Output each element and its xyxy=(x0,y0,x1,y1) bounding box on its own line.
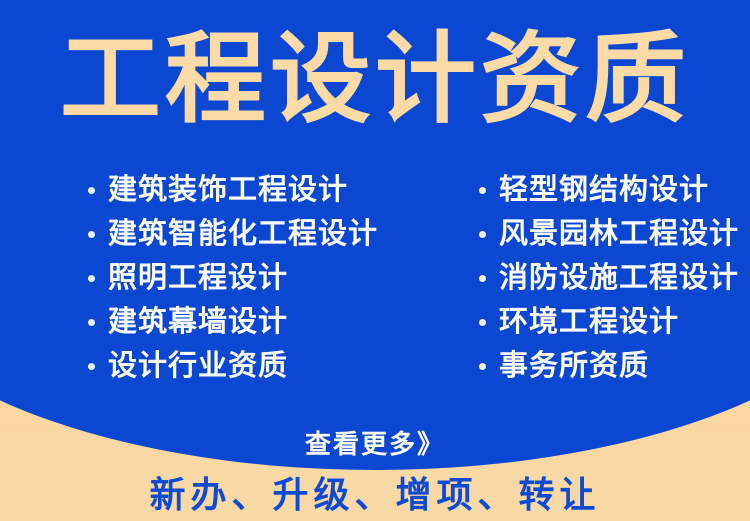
list-item[interactable]: 事务所资质 xyxy=(479,344,750,388)
poster-title-container: 工程设计资质 xyxy=(0,22,750,137)
view-more-link[interactable]: 查看更多》 xyxy=(305,429,445,459)
services-list: 建筑装饰工程设计 建筑智能化工程设计 照明工程设计 建筑幕墙设计 设计行业资质 xyxy=(0,168,750,388)
dot-bullet-icon xyxy=(88,187,95,194)
list-item-label: 设计行业资质 xyxy=(108,352,288,381)
list-item-label: 风景园林工程设计 xyxy=(499,220,739,249)
dot-bullet-icon xyxy=(88,231,95,238)
list-item[interactable]: 建筑智能化工程设计 xyxy=(88,212,463,256)
dot-bullet-icon xyxy=(479,231,486,238)
list-item[interactable]: 设计行业资质 xyxy=(88,344,463,388)
list-item[interactable]: 照明工程设计 xyxy=(88,256,463,300)
dot-bullet-icon xyxy=(479,363,486,370)
list-item[interactable]: 环境工程设计 xyxy=(479,300,750,344)
list-item-label: 轻型钢结构设计 xyxy=(499,176,709,205)
list-item-label: 环境工程设计 xyxy=(499,308,679,337)
view-more-container: 查看更多》 xyxy=(0,424,750,461)
list-item[interactable]: 建筑幕墙设计 xyxy=(88,300,463,344)
list-item-label: 建筑智能化工程设计 xyxy=(108,220,378,249)
list-item-label: 事务所资质 xyxy=(499,352,649,381)
tagline-text: 新办、升级、增项、转让 xyxy=(149,474,600,515)
services-right-column: 轻型钢结构设计 风景园林工程设计 消防设施工程设计 环境工程设计 事务所资质 xyxy=(463,168,750,388)
dot-bullet-icon xyxy=(88,363,95,370)
tagline-container: 新办、升级、增项、转让 xyxy=(0,466,750,518)
list-item-label: 照明工程设计 xyxy=(108,264,288,293)
dot-bullet-icon xyxy=(479,319,486,326)
list-item-label: 建筑幕墙设计 xyxy=(108,308,288,337)
dot-bullet-icon xyxy=(88,275,95,282)
dot-bullet-icon xyxy=(479,275,486,282)
list-item[interactable]: 风景园林工程设计 xyxy=(479,212,750,256)
list-item-label: 消防设施工程设计 xyxy=(499,264,739,293)
list-item-label: 建筑装饰工程设计 xyxy=(108,176,348,205)
list-item[interactable]: 建筑装饰工程设计 xyxy=(88,168,463,212)
dot-bullet-icon xyxy=(88,319,95,326)
list-item[interactable]: 消防设施工程设计 xyxy=(479,256,750,300)
page-title: 工程设计资质 xyxy=(60,22,690,137)
dot-bullet-icon xyxy=(479,187,486,194)
list-item[interactable]: 轻型钢结构设计 xyxy=(479,168,750,212)
promo-poster: 工程设计资质 建筑装饰工程设计 建筑智能化工程设计 照明工程设计 建筑幕墙设计 xyxy=(0,0,750,521)
services-left-column: 建筑装饰工程设计 建筑智能化工程设计 照明工程设计 建筑幕墙设计 设计行业资质 xyxy=(0,168,463,388)
